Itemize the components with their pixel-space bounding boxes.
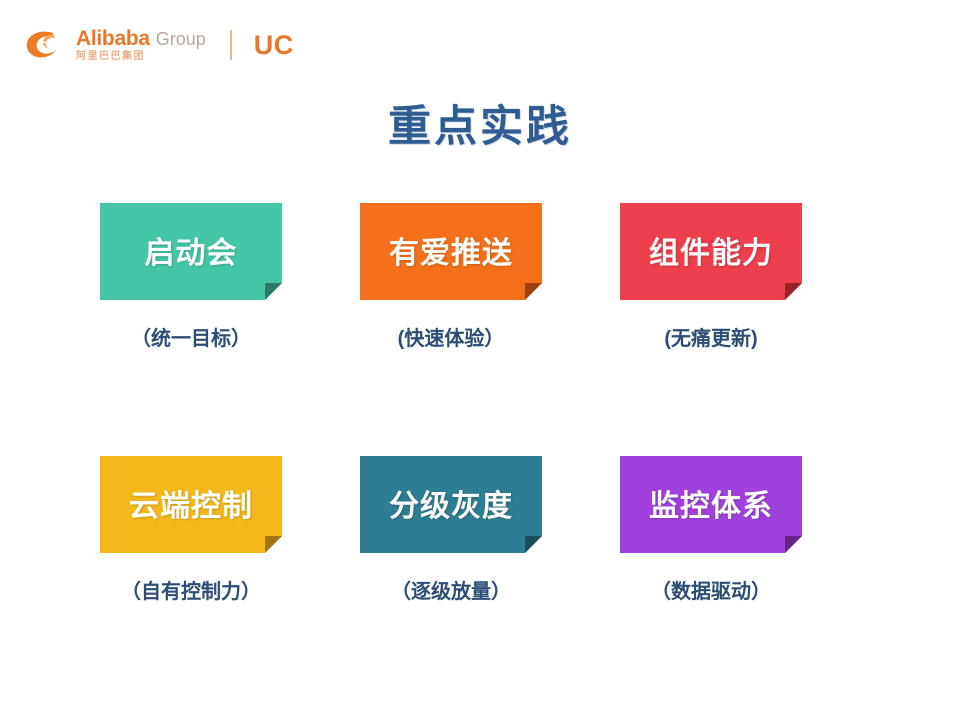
card-caption: （数据驱动） <box>620 575 802 604</box>
card-row-2: 云端控制 （自有控制力） 分级灰度 （逐级放量） 监控体系 （数据驱动） <box>100 456 860 604</box>
practice-card-yunduankongzhi[interactable]: 云端控制 （自有控制力） <box>100 456 282 604</box>
slide-canvas: Alibaba Group 阿里巴巴集团 UC 重点实践 启动会 （统一目标） <box>0 0 960 720</box>
card-label: 监控体系 <box>649 481 773 529</box>
folded-corner-icon <box>785 536 802 553</box>
folded-corner-icon <box>525 536 542 553</box>
brand-alibaba-chinese-text: 阿里巴巴集团 <box>76 52 206 62</box>
brand-wordmark-line: Alibaba Group <box>76 28 206 49</box>
card-box[interactable]: 有爱推送 <box>360 203 542 300</box>
practice-card-fenjihuidu[interactable]: 分级灰度 （逐级放量） <box>360 456 542 604</box>
card-box[interactable]: 云端控制 <box>100 456 282 553</box>
card-label: 有爱推送 <box>389 228 513 276</box>
card-box[interactable]: 启动会 <box>100 203 282 300</box>
brand-wordmark: Alibaba Group 阿里巴巴集团 <box>76 28 206 62</box>
page-title: 重点实践 <box>0 92 960 154</box>
card-caption: （统一目标） <box>100 322 282 351</box>
folded-corner-icon <box>265 536 282 553</box>
uc-logo-text: UC <box>254 30 294 61</box>
practice-card-qidonghui[interactable]: 启动会 （统一目标） <box>100 203 282 351</box>
brand-divider <box>230 30 232 60</box>
card-row-1: 启动会 （统一目标） 有爱推送 (快速体验） 组件能力 (无痛更新) <box>100 203 860 351</box>
practice-card-zujiannengli[interactable]: 组件能力 (无痛更新) <box>620 203 802 351</box>
card-caption: (快速体验） <box>360 322 542 351</box>
folded-corner-icon <box>785 283 802 300</box>
folded-corner-icon <box>265 283 282 300</box>
practice-card-jiankongtixi[interactable]: 监控体系 （数据驱动） <box>620 456 802 604</box>
brand-group-text: Group <box>156 30 206 48</box>
card-caption: （逐级放量） <box>360 575 542 604</box>
card-label: 组件能力 <box>649 228 773 276</box>
card-caption: (无痛更新) <box>620 322 802 351</box>
card-label: 分级灰度 <box>389 481 513 529</box>
card-box[interactable]: 监控体系 <box>620 456 802 553</box>
brand-alibaba-text: Alibaba <box>76 28 150 49</box>
card-caption: （自有控制力） <box>100 575 282 604</box>
folded-corner-icon <box>525 283 542 300</box>
brand-logo-bar: Alibaba Group 阿里巴巴集团 UC <box>24 20 294 70</box>
card-label: 启动会 <box>145 228 238 276</box>
card-box[interactable]: 分级灰度 <box>360 456 542 553</box>
practice-card-grid: 启动会 （统一目标） 有爱推送 (快速体验） 组件能力 (无痛更新) <box>100 203 860 709</box>
card-box[interactable]: 组件能力 <box>620 203 802 300</box>
practice-card-youaituisong[interactable]: 有爱推送 (快速体验） <box>360 203 542 351</box>
alibaba-swoosh-icon <box>24 28 68 62</box>
card-label: 云端控制 <box>129 481 253 529</box>
